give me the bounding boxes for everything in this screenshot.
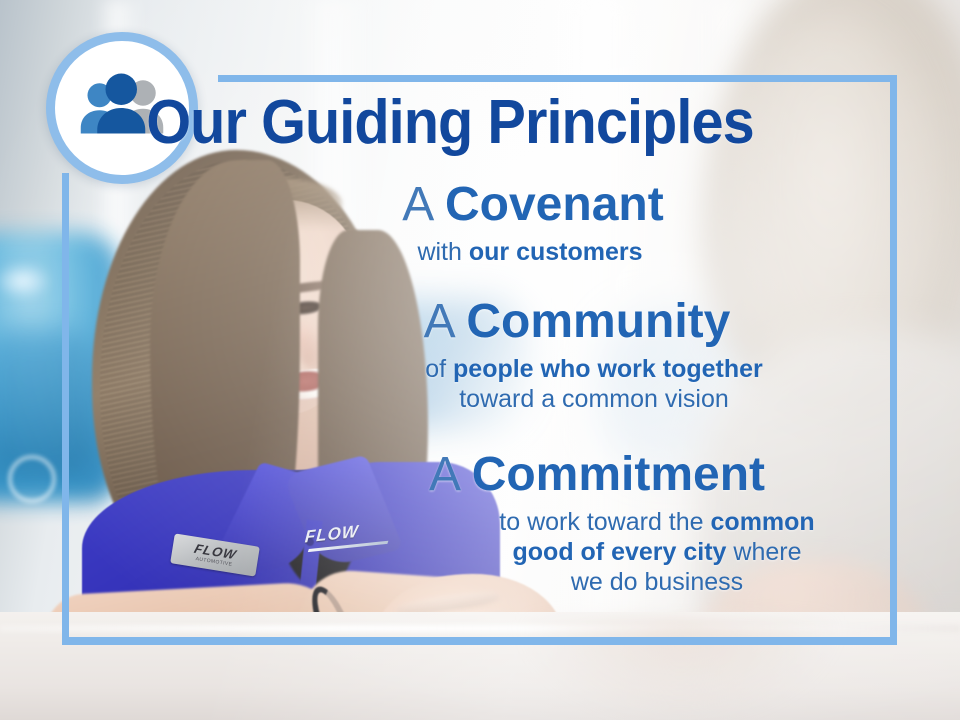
principle-article: A — [424, 295, 453, 348]
plain-text: of — [425, 355, 453, 383]
principle-word: Commitment — [472, 448, 765, 501]
guiding-principles-graphic: FLOW AUTOMOTIVE FLOW — [0, 0, 960, 720]
principle-word: Community — [466, 295, 730, 348]
plain-text: we do business — [571, 568, 743, 596]
principle-title: A Commitment — [300, 450, 894, 501]
blurred-blue-car-body — [0, 330, 100, 480]
principle-description-line: of people who work together — [334, 354, 854, 384]
principle-description-line: toward a common vision — [334, 384, 854, 414]
principle-description: with our customers — [300, 237, 766, 267]
principle-covenant: A Covenant with our customers — [300, 180, 894, 267]
principle-article: A — [402, 178, 431, 231]
principle-title: A Community — [300, 297, 854, 348]
emphasis-text: common — [711, 508, 815, 536]
emphasis-text: good of every city — [513, 538, 727, 566]
principle-article: A — [429, 448, 458, 501]
emphasis-text: our customers — [469, 238, 643, 266]
principle-description: to work toward the commongood of every c… — [300, 507, 894, 597]
page-title: Our Guiding Principles — [32, 92, 869, 154]
plain-text: toward a common vision — [459, 385, 729, 413]
principle-description-line: we do business — [420, 567, 894, 597]
principle-description-line: to work toward the common — [420, 507, 894, 537]
principle-description: of people who work togethertoward a comm… — [300, 354, 854, 414]
principles-list: A Covenant with our customers A Communit… — [300, 180, 894, 603]
principle-community: A Community of people who work togethert… — [300, 297, 894, 414]
principle-commitment: A Commitment to work toward the commongo… — [300, 450, 894, 597]
plain-text: to work toward the — [499, 508, 710, 536]
principle-word: Covenant — [445, 178, 664, 231]
plain-text: where — [726, 538, 801, 566]
desk-reflection — [520, 620, 840, 720]
principle-description-line: with our customers — [300, 237, 760, 267]
principle-description-line: good of every city where — [420, 537, 894, 567]
car-emblem — [8, 455, 56, 503]
car-highlight — [0, 262, 52, 300]
emphasis-text: people who work together — [453, 355, 763, 383]
plain-text: with — [417, 238, 468, 266]
principle-title: A Covenant — [300, 180, 766, 231]
